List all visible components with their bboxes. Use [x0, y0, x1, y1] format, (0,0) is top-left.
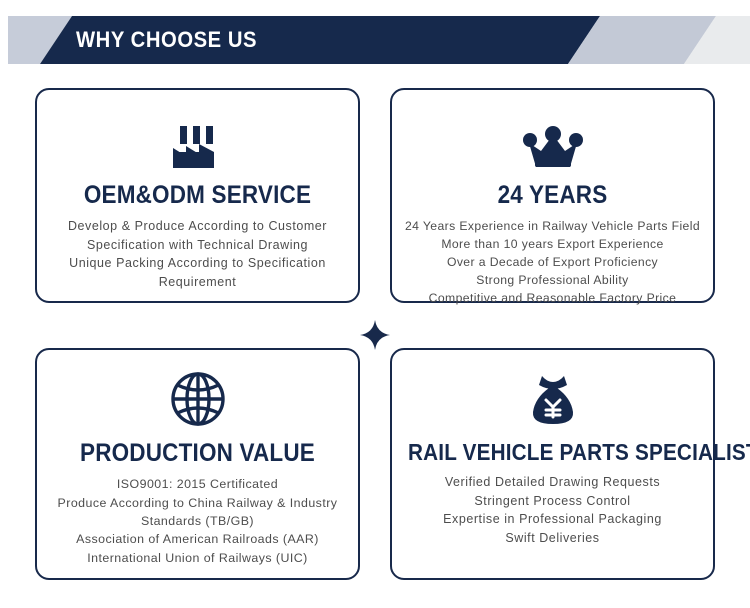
- card-body-line: Requirement: [47, 273, 348, 292]
- card-body: Develop & Produce According to Customer …: [37, 217, 358, 291]
- card-body-line: Unique Packing According to Specificatio…: [47, 254, 348, 273]
- card-title: OEM&ODM SERVICE: [53, 182, 342, 208]
- card-body-line: 24 Years Experience in Railway Vehicle P…: [402, 217, 703, 235]
- card-body-line: Standards (TB/GB): [47, 512, 348, 530]
- card-body-line: Expertise in Professional Packaging: [402, 510, 703, 529]
- card-production-value[interactable]: PRODUCTION VALUE ISO9001: 2015 Certifica…: [35, 348, 360, 580]
- card-body-line: Specification with Technical Drawing: [47, 236, 348, 255]
- card-title: RAIL VEHICLE PARTS SPECIALISTS: [408, 440, 697, 464]
- card-body-line: Strong Professional Ability: [402, 271, 703, 289]
- banner-title: WHY CHOOSE US: [76, 16, 257, 64]
- card-body-line: Verified Detailed Drawing Requests: [402, 473, 703, 492]
- card-body-line: More than 10 years Export Experience: [402, 235, 703, 253]
- card-icon-wrap: [37, 366, 358, 428]
- factory-icon: [169, 124, 227, 170]
- card-oem-odm-service[interactable]: OEM&ODM SERVICE Develop & Produce Accord…: [35, 88, 360, 303]
- card-body: 24 Years Experience in Railway Vehicle P…: [392, 217, 713, 307]
- card-icon-wrap: [37, 108, 358, 170]
- card-body: ISO9001: 2015 Certificated Produce Accor…: [37, 475, 358, 567]
- card-body-line: Stringent Process Control: [402, 492, 703, 511]
- card-body-line: Over a Decade of Export Proficiency: [402, 253, 703, 271]
- money-bag-yen-icon: [527, 372, 579, 428]
- card-body-line: Produce According to China Railway & Ind…: [47, 494, 348, 512]
- globe-icon: [169, 370, 227, 428]
- crown-icon: [523, 125, 583, 170]
- card-body-line: Competitive and Reasonable Factory Price: [402, 289, 703, 307]
- card-body-line: Swift Deliveries: [402, 529, 703, 548]
- card-body-line: Association of American Railroads (AAR): [47, 530, 348, 548]
- card-body: Verified Detailed Drawing Requests Strin…: [392, 473, 713, 547]
- card-rail-vehicle-parts-specialists[interactable]: RAIL VEHICLE PARTS SPECIALISTS Verified …: [390, 348, 715, 580]
- card-title: 24 YEARS: [408, 182, 697, 208]
- section-header-banner: WHY CHOOSE US: [0, 16, 750, 64]
- card-icon-wrap: [392, 366, 713, 428]
- card-body-line: Develop & Produce According to Customer: [47, 217, 348, 236]
- card-title: PRODUCTION VALUE: [53, 440, 342, 466]
- four-point-star-sparkle-icon: [360, 320, 390, 350]
- card-icon-wrap: [392, 108, 713, 170]
- card-body-line: ISO9001: 2015 Certificated: [47, 475, 348, 493]
- card-body-line: International Union of Railways (UIC): [47, 549, 348, 567]
- card-24-years[interactable]: 24 YEARS 24 Years Experience in Railway …: [390, 88, 715, 303]
